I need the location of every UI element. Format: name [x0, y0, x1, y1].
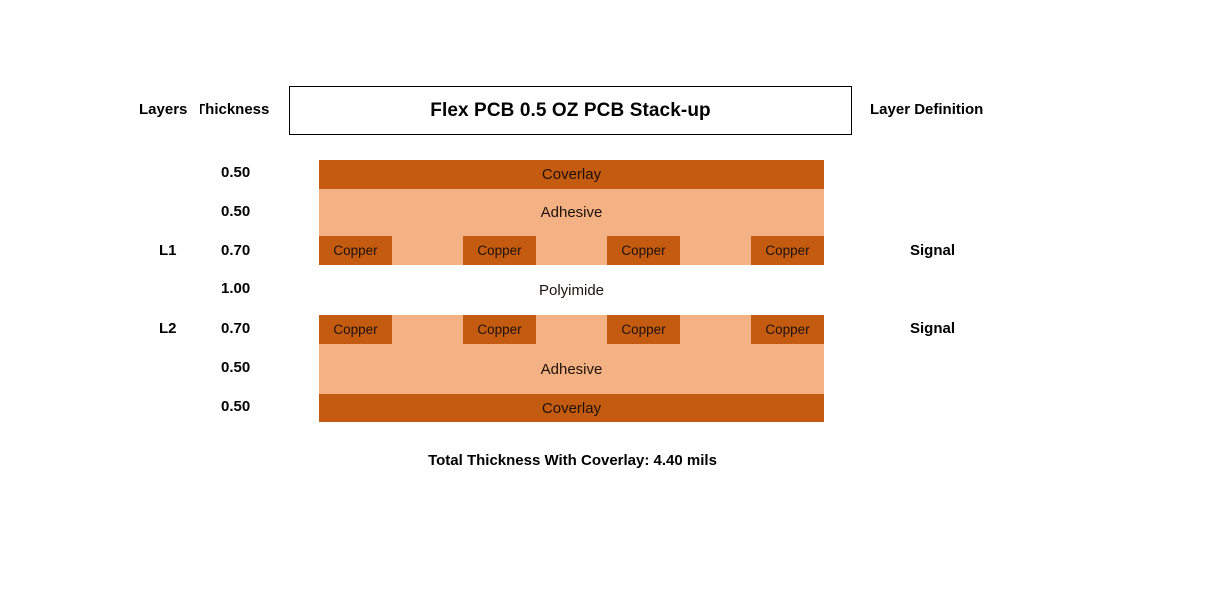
copper-trace-label: Copper — [477, 322, 521, 337]
thickness-value: 0.70 — [221, 320, 250, 337]
layer-definition-l2: Signal — [910, 320, 955, 337]
copper-trace: Copper — [319, 315, 392, 344]
copper-trace-label: Copper — [333, 322, 377, 337]
copper-trace-label: Copper — [765, 243, 809, 258]
layer-name-l1: L1 — [159, 242, 177, 259]
copper-trace-label: Copper — [765, 322, 809, 337]
header-layer-definition: Layer Definition — [870, 101, 983, 118]
copper-trace: Copper — [751, 315, 824, 344]
copper-trace: Copper — [607, 315, 680, 344]
layer-band-coverlay-bottom: Coverlay — [319, 394, 824, 422]
layer-material-label: Adhesive — [541, 204, 603, 221]
copper-trace: Copper — [463, 236, 536, 265]
layer-band-polyimide: Polyimide — [319, 265, 824, 315]
layer-band-coverlay-top: Coverlay — [319, 160, 824, 189]
thickness-value: 0.50 — [221, 164, 250, 181]
copper-row-background-l2 — [319, 315, 824, 344]
layer-band-copper-l1: Copper Copper Copper Copper — [319, 236, 824, 265]
layer-band-adhesive-top: Adhesive — [319, 189, 824, 236]
copper-trace-label: Copper — [477, 243, 521, 258]
thickness-value: 0.70 — [221, 242, 250, 259]
thickness-value: 0.50 — [221, 398, 250, 415]
layer-material-label: Coverlay — [542, 166, 601, 183]
layer-material-label: Coverlay — [542, 400, 601, 417]
thickness-value: 1.00 — [221, 280, 250, 297]
copper-trace: Copper — [607, 236, 680, 265]
copper-trace: Copper — [463, 315, 536, 344]
page-title: Flex PCB 0.5 OZ PCB Stack-up — [430, 100, 710, 122]
copper-trace: Copper — [319, 236, 392, 265]
copper-trace-label: Copper — [333, 243, 377, 258]
copper-trace-label: Copper — [621, 243, 665, 258]
thickness-value: 0.50 — [221, 203, 250, 220]
thickness-value: 0.50 — [221, 359, 250, 376]
header-thickness: Thickness — [200, 101, 286, 118]
layer-definition-l1: Signal — [910, 242, 955, 259]
layer-band-copper-l2: Copper Copper Copper Copper — [319, 315, 824, 344]
copper-trace-label: Copper — [621, 322, 665, 337]
header-thickness-text: Thickness — [200, 101, 269, 118]
pcb-stackup-diagram: Coverlay Adhesive Copper Copper Copper C… — [319, 160, 824, 422]
layer-material-label: Polyimide — [539, 282, 604, 299]
total-thickness-note: Total Thickness With Coverlay: 4.40 mils — [0, 452, 1145, 469]
copper-row-background-l1 — [319, 236, 824, 265]
copper-trace: Copper — [751, 236, 824, 265]
layer-name-l2: L2 — [159, 320, 177, 337]
layer-material-label: Adhesive — [541, 361, 603, 378]
layer-band-adhesive-bottom: Adhesive — [319, 344, 824, 394]
stackup-title-box: Flex PCB 0.5 OZ PCB Stack-up — [289, 86, 852, 135]
header-layers: Layers — [139, 101, 187, 118]
